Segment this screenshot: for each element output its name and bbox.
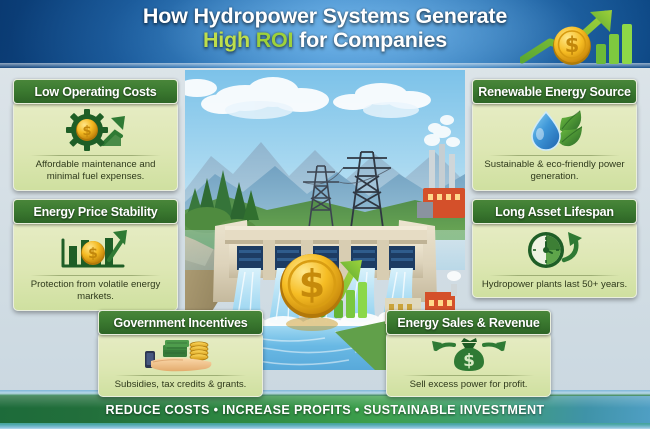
- card-title: Energy Sales & Revenue: [397, 316, 539, 330]
- coin-growth-chart-icon: $: [520, 8, 638, 66]
- title-high: High: [203, 28, 250, 52]
- card-energy-price-stability[interactable]: Energy Price Stability $: [13, 199, 178, 311]
- card-body: Subsidies, tax credits & grants.: [98, 332, 263, 397]
- card-title: Low Operating Costs: [35, 85, 157, 99]
- card-text: Protection from volatile energy markets.: [21, 279, 170, 304]
- card-title: Long Asset Lifespan: [495, 205, 614, 219]
- divider: [489, 275, 620, 276]
- card-long-asset-lifespan[interactable]: Long Asset Lifespan: [472, 199, 637, 298]
- infographic-poster: How Hydropower Systems Generate High ROI…: [0, 0, 650, 429]
- card-header: Energy Price Stability: [13, 199, 178, 224]
- hand-holding-money-icon: [141, 337, 221, 373]
- card-body: Sustainable & eco-friendly power generat…: [472, 101, 637, 191]
- gold-coin-growth-arrow-icon: $: [268, 242, 378, 337]
- gear-coin-arrow-icon: $: [63, 107, 129, 153]
- card-energy-sales-revenue[interactable]: Energy Sales & Revenue $: [386, 310, 551, 397]
- divider: [30, 275, 161, 276]
- water-droplet-leaves-icon: [522, 107, 588, 153]
- card-header: Government Incentives: [98, 310, 263, 335]
- card-header: Low Operating Costs: [13, 79, 178, 104]
- card-header: Renewable Energy Source: [472, 79, 637, 104]
- svg-text:$: $: [299, 262, 325, 306]
- svg-text:$: $: [88, 246, 98, 262]
- card-header: Long Asset Lifespan: [472, 199, 637, 224]
- card-title: Renewable Energy Source: [478, 85, 630, 99]
- card-header: Energy Sales & Revenue: [386, 310, 551, 335]
- header-banner: How Hydropower Systems Generate High ROI…: [0, 0, 650, 68]
- svg-text:$: $: [463, 351, 475, 371]
- card-body: Hydropower plants last 50+ years.: [472, 221, 637, 298]
- card-title: Government Incentives: [113, 316, 247, 330]
- svg-text:$: $: [82, 124, 91, 139]
- clock-dial-arrow-icon: [522, 227, 588, 273]
- card-body: $ Sell excess power for profit.: [386, 332, 551, 397]
- card-renewable-energy-source[interactable]: Renewable Energy Source: [472, 79, 637, 191]
- card-text: Subsidies, tax credits & grants.: [115, 379, 247, 391]
- divider: [403, 375, 534, 376]
- divider: [115, 375, 246, 376]
- divider: [489, 155, 620, 156]
- svg-text:$: $: [565, 33, 580, 57]
- bar-chart-coin-arrow-icon: $: [59, 227, 133, 273]
- card-text: Sustainable & eco-friendly power generat…: [480, 159, 629, 184]
- card-low-operating-costs[interactable]: Low Operating Costs: [13, 79, 178, 191]
- card-text: Hydropower plants last 50+ years.: [482, 279, 627, 291]
- card-body: $ Affordable maintenance and minimal fue…: [13, 101, 178, 191]
- money-bag-arrows-icon: $: [426, 337, 512, 373]
- card-text: Affordable maintenance and minimal fuel …: [21, 159, 170, 184]
- title-for-companies: for Companies: [299, 28, 447, 52]
- card-body: $ Protection from volatile energy market…: [13, 221, 178, 311]
- card-title: Energy Price Stability: [33, 205, 157, 219]
- divider: [30, 155, 161, 156]
- title-roi: ROI: [256, 28, 294, 52]
- card-government-incentives[interactable]: Government Incentives: [98, 310, 263, 397]
- card-text: Sell excess power for profit.: [410, 379, 528, 391]
